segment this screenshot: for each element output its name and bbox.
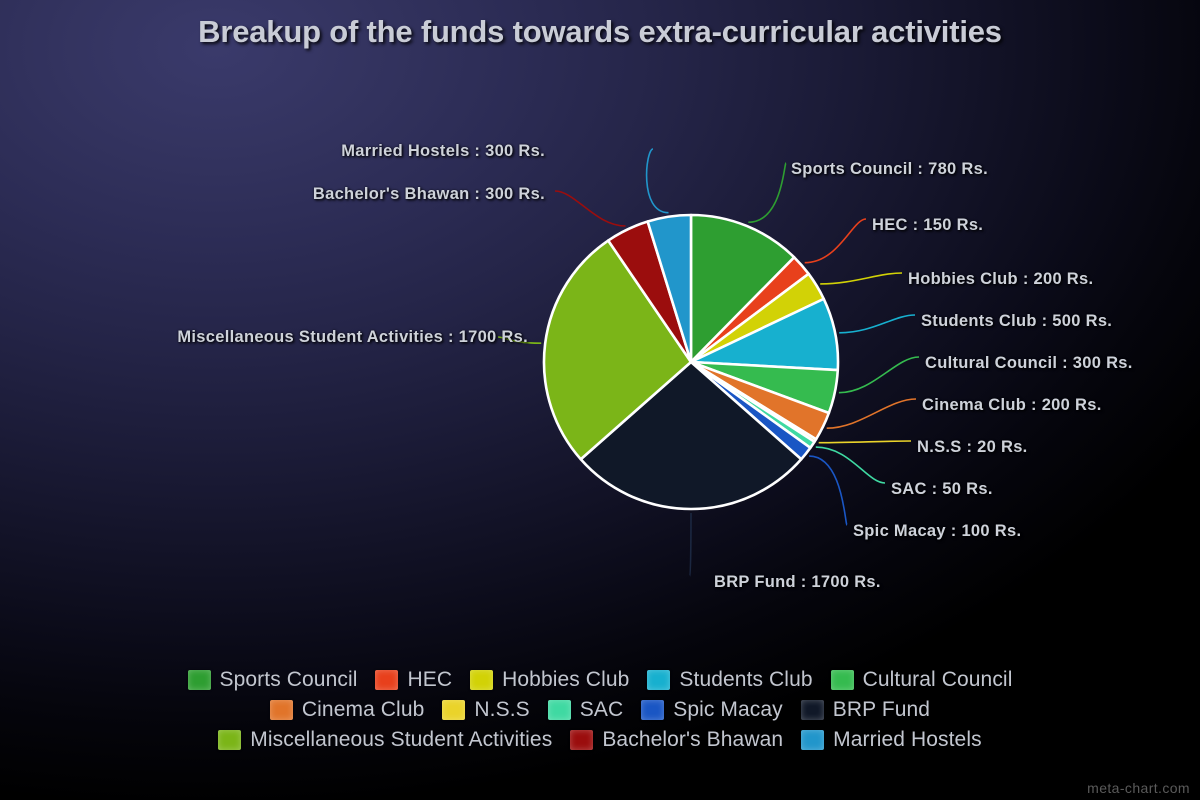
legend-label: N.S.S: [474, 698, 529, 722]
watermark: meta-chart.com: [1087, 780, 1190, 796]
callout-married-hostels: Married Hostels : 300 Rs.: [341, 142, 545, 161]
legend-item[interactable]: SAC: [548, 698, 623, 722]
chart-legend: Sports CouncilHECHobbies ClubStudents Cl…: [0, 668, 1200, 752]
leader-line: [827, 399, 916, 428]
legend-item[interactable]: Cultural Council: [831, 668, 1013, 692]
legend-item[interactable]: HEC: [375, 668, 452, 692]
legend-swatch-icon: [831, 670, 854, 690]
chart-canvas: Breakup of the funds towards extra-curri…: [0, 0, 1200, 800]
leader-line: [647, 149, 669, 213]
callout-spic-macay: Spic Macay : 100 Rs.: [853, 522, 1021, 541]
legend-item[interactable]: BRP Fund: [801, 698, 930, 722]
legend-swatch-icon: [641, 700, 664, 720]
legend-item[interactable]: N.S.S: [442, 698, 529, 722]
legend-label: Sports Council: [220, 668, 358, 692]
legend-label: Cinema Club: [302, 698, 425, 722]
legend-swatch-icon: [647, 670, 670, 690]
legend-row: Sports CouncilHECHobbies ClubStudents Cl…: [179, 668, 1022, 692]
legend-swatch-icon: [470, 670, 493, 690]
legend-swatch-icon: [801, 700, 824, 720]
legend-swatch-icon: [218, 730, 241, 750]
legend-item[interactable]: Miscellaneous Student Activities: [218, 728, 552, 752]
callout-bachelors-bhawan: Bachelor's Bhawan : 300 Rs.: [313, 185, 545, 204]
callout-hec: HEC : 150 Rs.: [872, 216, 983, 235]
legend-item[interactable]: Married Hostels: [801, 728, 982, 752]
legend-item[interactable]: Sports Council: [188, 668, 358, 692]
legend-item[interactable]: Bachelor's Bhawan: [570, 728, 783, 752]
leader-line: [816, 447, 885, 483]
leader-line: [690, 513, 691, 576]
legend-item[interactable]: Cinema Club: [270, 698, 425, 722]
legend-label: HEC: [407, 668, 452, 692]
callout-hobbies-club: Hobbies Club : 200 Rs.: [908, 270, 1093, 289]
leader-line: [839, 357, 919, 393]
callout-cultural-council: Cultural Council : 300 Rs.: [925, 354, 1133, 373]
callout-sports-council: Sports Council : 780 Rs.: [791, 160, 988, 179]
legend-item[interactable]: Spic Macay: [641, 698, 783, 722]
legend-label: Married Hostels: [833, 728, 982, 752]
legend-swatch-icon: [548, 700, 571, 720]
legend-label: Hobbies Club: [502, 668, 629, 692]
legend-swatch-icon: [442, 700, 465, 720]
legend-label: Miscellaneous Student Activities: [250, 728, 552, 752]
callout-sac: SAC : 50 Rs.: [891, 480, 993, 499]
callout-students-club: Students Club : 500 Rs.: [921, 312, 1112, 331]
legend-row: Cinema ClubN.S.SSACSpic MacayBRP Fund: [261, 698, 939, 722]
legend-label: Cultural Council: [863, 668, 1013, 692]
legend-label: Students Club: [679, 668, 812, 692]
legend-swatch-icon: [270, 700, 293, 720]
leader-line: [839, 315, 915, 333]
legend-label: SAC: [580, 698, 623, 722]
legend-swatch-icon: [375, 670, 398, 690]
legend-item[interactable]: Students Club: [647, 668, 812, 692]
callout-brp-fund: BRP Fund : 1700 Rs.: [714, 573, 881, 592]
legend-swatch-icon: [188, 670, 211, 690]
pie-slices: [544, 215, 838, 509]
legend-label: BRP Fund: [833, 698, 930, 722]
leader-line: [555, 191, 626, 226]
legend-item[interactable]: Hobbies Club: [470, 668, 629, 692]
legend-label: Bachelor's Bhawan: [602, 728, 783, 752]
callout-nss: N.S.S : 20 Rs.: [917, 438, 1028, 457]
legend-row: Miscellaneous Student ActivitiesBachelor…: [209, 728, 990, 752]
leader-line: [809, 456, 847, 525]
leader-line: [805, 219, 866, 263]
legend-swatch-icon: [570, 730, 593, 750]
leader-line: [748, 163, 786, 222]
leader-line: [819, 441, 911, 443]
legend-label: Spic Macay: [673, 698, 783, 722]
legend-swatch-icon: [801, 730, 824, 750]
callout-cinema-club: Cinema Club : 200 Rs.: [922, 396, 1102, 415]
leader-line: [820, 273, 902, 284]
callout-miscellaneous: Miscellaneous Student Activities : 1700 …: [177, 328, 528, 347]
